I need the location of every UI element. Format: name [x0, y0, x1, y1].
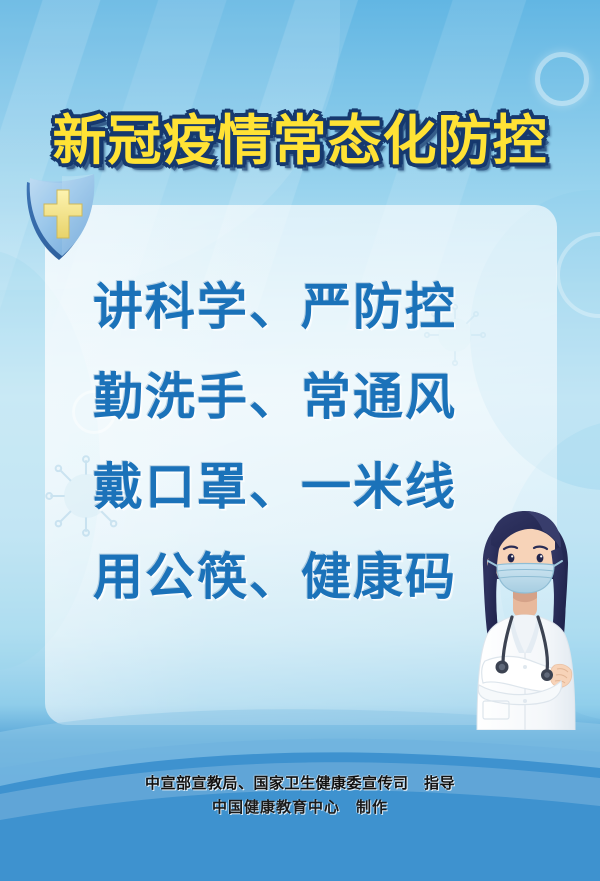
slogan-line: 用公筷、健康码 — [40, 532, 510, 622]
bubble-ring-icon — [535, 52, 589, 106]
footer-producer-line: 中国健康教育中心 制作 — [0, 794, 600, 820]
bubble-ring-icon — [556, 232, 600, 318]
slogan-line: 勤洗手、常通风 — [40, 352, 510, 442]
page-title: 新冠疫情常态化防控 — [0, 104, 600, 178]
slogan-line: 戴口罩、一米线 — [40, 442, 510, 532]
female-doctor-with-mask-illustration — [455, 505, 600, 730]
shield-with-cross-icon — [22, 168, 104, 264]
footer-credits: 中宣部宣教局、国家卫生健康委宣传司 指导 中国健康教育中心 制作 — [0, 772, 600, 820]
slogan-line: 讲科学、严防控 — [40, 262, 510, 352]
covid-prevention-poster: 新冠疫情常态化防控 — [0, 0, 600, 881]
slogan-block: 讲科学、严防控 勤洗手、常通风 戴口罩、一米线 用公筷、健康码 — [40, 262, 510, 622]
footer-guidance-line: 中宣部宣教局、国家卫生健康委宣传司 指导 — [0, 772, 600, 794]
